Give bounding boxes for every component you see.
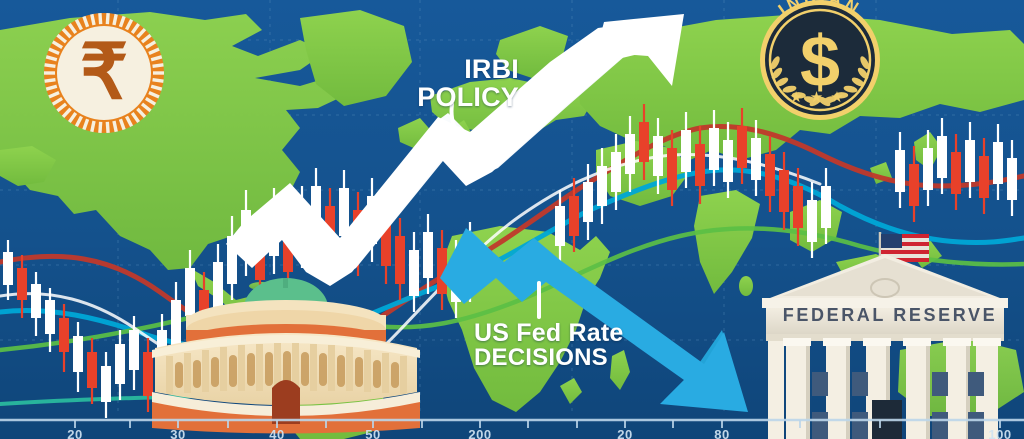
coin-stars: ★★★: [789, 89, 850, 106]
axis-tick-label: 30: [170, 427, 185, 439]
us-fed-rate-label: US Fed Rate DECISIONS: [474, 320, 664, 371]
axis-tick-label: 50: [365, 427, 380, 439]
rbi-policy-line1: IRBI: [389, 55, 519, 83]
rbi-policy-label: IRBI POLICY: [389, 55, 519, 111]
axis-tick-label: 200: [468, 427, 491, 439]
axis-tick-label: 20: [617, 427, 632, 439]
axis-tick-label: 100: [988, 427, 1011, 439]
bottom-axis: 203040502002080100: [0, 415, 1024, 439]
rbi-policy-line2: POLICY: [389, 83, 519, 111]
axis-tick-label: 20: [67, 427, 82, 439]
us-fed-rate-line1: US Fed Rate: [474, 320, 664, 346]
axis-tick-label: 80: [714, 427, 729, 439]
us-fed-rate-line2: DECISIONS: [474, 346, 664, 371]
infographic-canvas: FEDERAL RESERVE ₹: [0, 0, 1024, 439]
axis-tick-label: 40: [269, 427, 284, 439]
